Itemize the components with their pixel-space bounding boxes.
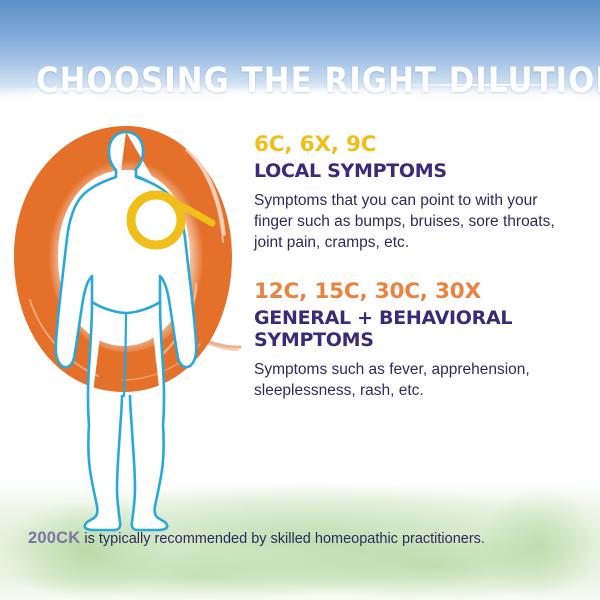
symptom-heading-general: GENERAL + BEHAVIORAL SYMPTOMS: [254, 307, 554, 351]
symptom-heading-local: LOCAL SYMPTOMS: [254, 160, 586, 182]
infographic-canvas: CHOOSING THE RIGHT DILUTION: [0, 0, 600, 600]
symptom-description-local: Symptoms that you can point to with your…: [254, 190, 574, 253]
dilution-block-local: 6C, 6X, 9C LOCAL SYMPTOMS Symptoms that …: [254, 132, 586, 253]
symptom-description-general: Symptoms such as fever, apprehension, sl…: [254, 359, 544, 401]
page-title: CHOOSING THE RIGHT DILUTION: [36, 61, 564, 101]
body-illustration: [0, 104, 252, 534]
potency-label-local: 6C, 6X, 9C: [254, 132, 586, 157]
footer-note: 200CK is typically recommended by skille…: [28, 529, 588, 548]
dilution-block-general: 12C, 15C, 30C, 30X GENERAL + BEHAVIORAL …: [254, 279, 586, 401]
footer-note-text: is typically recommended by skilled home…: [80, 531, 485, 547]
footer-potency-label: 200CK: [28, 529, 80, 547]
dilution-guide-list: 6C, 6X, 9C LOCAL SYMPTOMS Symptoms that …: [254, 132, 586, 401]
illustration-svg: [0, 104, 252, 534]
potency-label-general: 12C, 15C, 30C, 30X: [254, 279, 586, 304]
